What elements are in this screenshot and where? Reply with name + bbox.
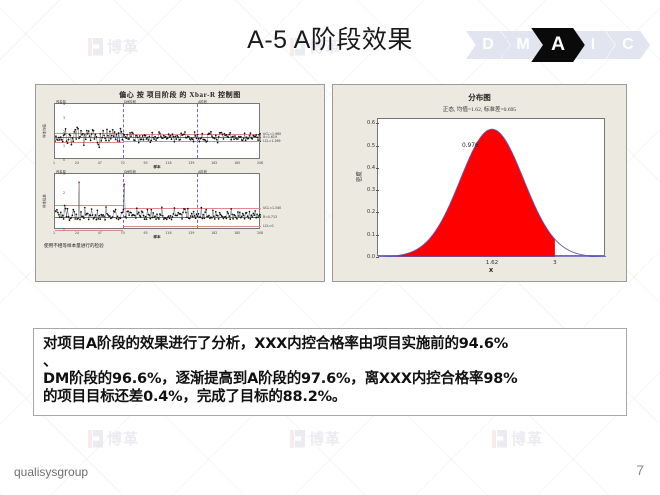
distribution-x-tick: 1.62 — [486, 260, 498, 266]
distribution-curve — [378, 119, 606, 257]
distribution-y-tick: 0.1 — [367, 232, 375, 238]
phase-label: 改善前 — [56, 169, 66, 174]
phase-label: A阶段 — [198, 169, 207, 174]
control-chart-plot-area: 3210UCL=1.340R=0.713LCL=0 — [54, 173, 260, 229]
control-chart-series — [55, 104, 261, 160]
control-limit-label: UCL=1.340 — [263, 206, 281, 210]
distribution-x-axis-label: X — [378, 268, 604, 274]
analysis-text-line: 对项目A阶段的效果进行了分析，XXX内控合格率由项目实施前的94.6% — [43, 336, 617, 354]
xbar-subchart: 样本均值43210UCL=1.960X=1.619LCL=1.269改善前DM阶… — [40, 103, 320, 170]
watermark-mark-icon — [88, 430, 103, 448]
distribution-y-axis-label: 密度 — [355, 171, 363, 182]
distribution-subtitle: 正态, 均值=1.62, 标准差=0.695 — [333, 103, 626, 113]
page-number: 7 — [636, 462, 644, 478]
xbar-r-control-chart-panel: 偏心 按 项目阶段 的 Xbar-R 控制图 样本均值43210UCL=1.96… — [35, 84, 325, 282]
control-limit-label: LCL=1.269 — [263, 139, 281, 143]
analysis-text-box: 对项目A阶段的效果进行了分析，XXX内控合格率由项目实施前的94.6%、DM阶段… — [33, 328, 627, 416]
control-chart-y-axis-label: 样本极差 — [41, 194, 46, 208]
distribution-y-tick: 0.2 — [367, 209, 375, 215]
distribution-y-tick: 0.6 — [367, 120, 375, 126]
analysis-text-line: 、 — [43, 354, 617, 372]
dmaic-phase-label: I — [591, 36, 595, 54]
phase-label: DM阶段 — [124, 99, 136, 104]
control-chart-title: 偏心 按 项目阶段 的 Xbar-R 控制图 — [36, 85, 324, 100]
r-subchart: 样本极差3210UCL=1.340R=0.713LCL=0改善前DM阶段A阶段1… — [40, 173, 320, 240]
dmaic-phase-label: D — [482, 36, 494, 54]
dmaic-phase-banner: DMAIC — [475, 30, 650, 60]
slide-header: A-5 A阶段效果 DMAIC — [0, 0, 660, 72]
watermark-logo: 博革 — [492, 428, 543, 449]
slide-footer: qualisysgroup 7 — [0, 460, 660, 495]
phase-label: 改善前 — [56, 99, 66, 104]
watermark-label: 博革 — [309, 428, 341, 449]
control-chart-plot-area: 43210UCL=1.960X=1.619LCL=1.269 — [54, 103, 260, 159]
distribution-y-tick: 0.5 — [367, 143, 375, 149]
distribution-plot-panel: 分布图 正态, 均值=1.62, 标准差=0.695 密度 0.976 X 0.… — [332, 84, 627, 282]
analysis-text-line: 的项目目标还差0.4%，完成了目标的88.2%。 — [43, 389, 617, 407]
control-chart-footnote: 使用不相等样本量进行的检验 — [36, 240, 324, 249]
analysis-text-line: DM阶段的96.6%，逐渐提高到A阶段的97.6%，离XXX内控合格率98% — [43, 371, 617, 389]
control-limit-label: LCL=0 — [263, 224, 273, 228]
distribution-title: 分布图 — [333, 85, 626, 103]
distribution-y-tick: 0.0 — [367, 254, 375, 260]
probability-annotation: 0.976 — [462, 143, 479, 149]
dmaic-phase-label: M — [516, 36, 529, 54]
control-chart-x-axis: 124477093116139162185208样本 — [54, 230, 260, 240]
watermark-label: 博革 — [511, 428, 543, 449]
dmaic-phase-label: C — [622, 36, 634, 54]
watermark-mark-icon — [290, 430, 305, 448]
brand-label: qualisysgroup — [14, 465, 88, 479]
distribution-x-tick: 3 — [553, 260, 557, 266]
phase-label: DM阶段 — [124, 169, 136, 174]
control-limit-label: R=0.713 — [263, 215, 277, 219]
control-chart-y-axis-label: 样本均值 — [41, 124, 46, 138]
distribution-y-tick: 0.3 — [367, 187, 375, 193]
phase-label: A阶段 — [198, 99, 207, 104]
watermark-logo: 博革 — [88, 428, 139, 449]
control-chart-x-axis-label: 样本 — [54, 165, 260, 170]
watermark-mark-icon — [492, 430, 507, 448]
distribution-plot-area: 0.976 X 0.60.50.40.30.20.10.01.623 — [377, 118, 605, 256]
control-chart-series — [55, 174, 261, 230]
control-chart-x-axis: 124477093116139162185208样本 — [54, 160, 260, 170]
watermark-label: 博革 — [107, 428, 139, 449]
watermark-logo: 博革 — [290, 428, 341, 449]
distribution-y-tick: 0.4 — [367, 165, 375, 171]
dmaic-phase-label: A — [551, 34, 565, 56]
control-chart-x-axis-label: 样本 — [54, 235, 260, 240]
